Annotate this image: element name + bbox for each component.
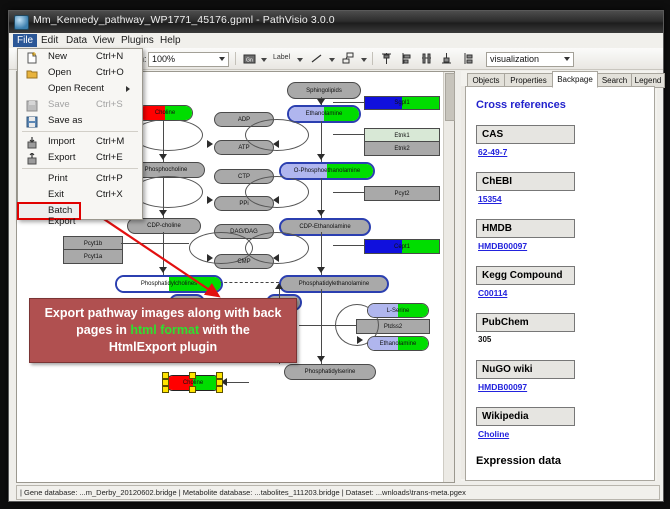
menu-separator bbox=[22, 131, 138, 132]
selection-handle[interactable] bbox=[189, 372, 196, 379]
line-dropdown-arrow[interactable] bbox=[329, 58, 335, 62]
application-window: Mm_Kennedy_pathway_WP1771_45176.gpml - P… bbox=[8, 10, 664, 502]
label-tool-label[interactable]: Label bbox=[273, 54, 290, 61]
file-menu-label: Save bbox=[48, 99, 70, 110]
menu-edit[interactable]: Edit bbox=[37, 34, 62, 47]
n-ptdetn-label: Phosphatidylethanolamine bbox=[299, 281, 369, 287]
n-ptdss2-label: Ptdss2 bbox=[384, 324, 402, 330]
n-sgpl1-label: Sgpl1 bbox=[394, 100, 409, 106]
edge-ptdetn-ptdserine bbox=[321, 289, 322, 364]
xref-section-title: NuGO wiki bbox=[476, 360, 575, 379]
n-ethanolamine-top-label: Ethanolamine bbox=[306, 111, 343, 117]
file-menu-item-open[interactable]: OpenCtrl+O bbox=[18, 65, 142, 81]
menu-file[interactable]: File bbox=[13, 34, 37, 47]
file-menu-item-new[interactable]: NewCtrl+N bbox=[18, 49, 142, 65]
file-menu-accelerator: Ctrl+N bbox=[96, 51, 123, 62]
edge-sgpl1 bbox=[333, 102, 364, 103]
align-top-icon[interactable] bbox=[379, 51, 394, 66]
menu-bar: File Edit Data View Plugins Help bbox=[9, 33, 663, 49]
arrow-left-atp bbox=[273, 140, 279, 148]
file-menu-label: Export bbox=[48, 152, 75, 163]
xref-section-title: Wikipedia bbox=[476, 407, 575, 426]
canvas-vertical-scrollbar[interactable] bbox=[443, 72, 454, 482]
file-menu-popup[interactable]: NewCtrl+NOpenCtrl+OOpen RecentSaveCtrl+S… bbox=[17, 48, 143, 220]
xref-value: 305 bbox=[478, 335, 491, 344]
selection-handle[interactable] bbox=[162, 372, 169, 379]
file-menu-accelerator: Ctrl+X bbox=[96, 189, 123, 200]
xref-section-title: PubChem bbox=[476, 313, 575, 332]
n-ethanolamine2-label: Ethanolamine bbox=[380, 341, 417, 347]
align-left-icon[interactable] bbox=[399, 51, 414, 66]
export-icon bbox=[26, 152, 38, 164]
xref-link[interactable]: Choline bbox=[478, 429, 509, 439]
xref-link[interactable]: HMDB00097 bbox=[478, 382, 527, 392]
file-menu-item-save-as[interactable]: Save as bbox=[18, 113, 142, 129]
curve-adp-atp bbox=[133, 119, 203, 151]
file-menu-label: Print bbox=[48, 173, 68, 184]
file-menu-label: Open Recent bbox=[48, 83, 104, 94]
stack-icon[interactable] bbox=[461, 51, 476, 66]
n-choline-top-label: Choline bbox=[155, 110, 175, 116]
new-file-icon bbox=[26, 51, 38, 63]
selection-handle[interactable] bbox=[162, 386, 169, 393]
n-ctp-label: CTP bbox=[238, 174, 250, 180]
cross-references-heading: Cross references bbox=[476, 99, 566, 111]
file-menu-accelerator: Ctrl+O bbox=[96, 67, 124, 78]
n-ptdetn[interactable]: Phosphatidylethanolamine bbox=[279, 275, 389, 293]
edge-pcyt2 bbox=[333, 192, 364, 193]
arrow-down-1 bbox=[159, 154, 167, 160]
n-phosphocholine-label: Phosphocholine bbox=[145, 167, 188, 173]
n-lserine[interactable]: L-Serine bbox=[367, 303, 429, 318]
n-cept1-label: Cept1 bbox=[394, 244, 410, 250]
submenu-arrow-icon bbox=[126, 86, 130, 92]
file-menu-items: NewCtrl+NOpenCtrl+OOpen RecentSaveCtrl+S… bbox=[18, 49, 142, 219]
file-menu-accelerator: Ctrl+M bbox=[96, 136, 124, 147]
n-ophospho[interactable]: O-Phosphoethanolamine bbox=[279, 162, 375, 180]
datanode-dropdown-arrow[interactable] bbox=[261, 58, 267, 62]
datanode-icon[interactable]: Gn bbox=[242, 51, 257, 66]
file-menu-label: New bbox=[48, 51, 67, 62]
selection-handle[interactable] bbox=[162, 379, 169, 386]
n-ethanolamine2[interactable]: Ethanolamine bbox=[367, 336, 429, 351]
n-adp-label: ADP bbox=[238, 117, 250, 123]
align-center-icon[interactable] bbox=[419, 51, 434, 66]
file-menu-accelerator: Ctrl+P bbox=[96, 173, 123, 184]
zoom-combo[interactable]: 100% bbox=[148, 52, 229, 67]
annotation-callout: Export pathway images along with back pa… bbox=[29, 298, 297, 363]
file-menu-label: Batch Export bbox=[48, 205, 80, 227]
file-menu-label: Exit bbox=[48, 189, 64, 200]
tab-backpage[interactable]: Backpage bbox=[552, 71, 598, 88]
save-icon bbox=[26, 99, 38, 111]
side-panel: Objects Properties Backpage Search Legen… bbox=[461, 71, 657, 481]
visualization-combo[interactable]: visualization bbox=[486, 52, 574, 67]
callout-highlight: html format bbox=[130, 323, 199, 337]
chevron-down-icon bbox=[219, 57, 225, 61]
callout-line2-a: pages in bbox=[76, 323, 130, 337]
visualization-value: visualization bbox=[490, 54, 539, 64]
n-etnk1-label: Etnk1 bbox=[394, 133, 409, 139]
svg-text:Gn: Gn bbox=[246, 58, 253, 64]
n-etnk2-label: Etnk2 bbox=[394, 146, 409, 152]
n-choline-top[interactable]: Choline bbox=[137, 105, 193, 121]
selection-handle[interactable] bbox=[216, 372, 223, 379]
menu-separator bbox=[22, 168, 138, 169]
interaction-icon[interactable] bbox=[341, 51, 356, 66]
title-bar: Mm_Kennedy_pathway_WP1771_45176.gpml - P… bbox=[9, 11, 663, 34]
n-ethanolamine-top[interactable]: Ethanolamine bbox=[287, 105, 361, 123]
selection-handle[interactable] bbox=[216, 379, 223, 386]
arrow-left-cmp bbox=[273, 254, 279, 262]
status-bar: | Gene database: ...m_Derby_20120602.bri… bbox=[16, 485, 660, 500]
screenshot-root: Mm_Kennedy_pathway_WP1771_45176.gpml - P… bbox=[0, 0, 670, 509]
file-menu-item-save: SaveCtrl+S bbox=[18, 97, 142, 113]
toolbar-separator bbox=[235, 52, 236, 65]
file-menu-label: Open bbox=[48, 67, 71, 78]
n-lserine-label: L-Serine bbox=[387, 308, 410, 314]
selection-handle[interactable] bbox=[216, 386, 223, 393]
xref-link[interactable]: C00114 bbox=[478, 288, 507, 298]
arrow-down-7 bbox=[317, 267, 325, 273]
window-title: Mm_Kennedy_pathway_WP1771_45176.gpml - P… bbox=[33, 14, 335, 26]
n-pcyt2-label: Pcyt2 bbox=[394, 191, 409, 197]
xref-section-title: CAS bbox=[476, 125, 575, 144]
arrow-down-8 bbox=[317, 356, 325, 362]
scrollbar-thumb[interactable] bbox=[445, 73, 455, 121]
n-cdpetn-label: CDP-Ethanolamine bbox=[299, 224, 350, 230]
arrow-down-6 bbox=[317, 210, 325, 216]
n-sgpl1[interactable]: Sgpl1 bbox=[364, 96, 440, 110]
n-ptdserine-label: Phosphatidylserine bbox=[305, 369, 356, 375]
interaction-dropdown-arrow[interactable] bbox=[361, 58, 367, 62]
zoom-value: 100% bbox=[152, 54, 175, 64]
folder-open-icon bbox=[26, 67, 38, 79]
n-pcyt2[interactable]: Pcyt2 bbox=[364, 186, 440, 201]
file-menu-item-export[interactable]: ExportCtrl+E bbox=[18, 150, 142, 166]
chevron-down-icon-2 bbox=[564, 57, 570, 61]
file-menu-label: Import bbox=[48, 136, 75, 147]
n-cept1[interactable]: Cept1 bbox=[364, 239, 440, 254]
arrow-down-4 bbox=[317, 99, 325, 105]
menu-data[interactable]: Data bbox=[62, 34, 91, 47]
xref-link[interactable]: HMDB00097 bbox=[478, 241, 527, 251]
pathvisio-icon bbox=[14, 15, 29, 30]
save-as-icon bbox=[26, 115, 38, 127]
import-icon bbox=[26, 136, 38, 148]
xref-section-title: HMDB bbox=[476, 219, 575, 238]
callout-line-3: HtmlExport plugin bbox=[38, 339, 288, 356]
xref-link[interactable]: 15354 bbox=[478, 194, 502, 204]
arrow-up-1 bbox=[275, 283, 283, 289]
backpage-content: Cross references CAS62-49-7ChEBI15354HMD… bbox=[465, 86, 655, 481]
xref-link[interactable]: 62-49-7 bbox=[478, 147, 507, 157]
callout-line-1: Export pathway images along with back bbox=[38, 305, 288, 322]
file-menu-item-batch-export[interactable]: Batch Export bbox=[18, 203, 80, 219]
align-bottom-icon[interactable] bbox=[439, 51, 454, 66]
expression-data-heading: Expression data bbox=[476, 455, 561, 467]
file-menu-accelerator: Ctrl+S bbox=[96, 99, 123, 110]
n-ophospho-label: O-Phosphoethanolamine bbox=[294, 168, 360, 174]
n-etnk2[interactable]: Etnk2 bbox=[364, 141, 440, 156]
file-menu-item-exit[interactable]: ExitCtrl+X bbox=[18, 187, 142, 203]
file-menu-label: Save as bbox=[48, 115, 82, 126]
xref-section-title: ChEBI bbox=[476, 172, 575, 191]
edge-etnk bbox=[333, 134, 364, 135]
selection-handle[interactable] bbox=[189, 386, 196, 393]
label-dropdown-arrow[interactable] bbox=[297, 58, 303, 62]
callout-line2-b: with the bbox=[199, 323, 250, 337]
line-icon[interactable] bbox=[309, 51, 324, 66]
n-sphingolipids[interactable]: Sphingolipids bbox=[287, 82, 361, 99]
menu-help[interactable]: Help bbox=[156, 34, 185, 47]
menu-view[interactable]: View bbox=[89, 34, 119, 47]
file-menu-accelerator: Ctrl+E bbox=[96, 152, 123, 163]
arrow-right-etn2 bbox=[357, 336, 363, 344]
callout-line-2: pages in html format with the bbox=[38, 322, 288, 339]
menu-plugins[interactable]: Plugins bbox=[117, 34, 158, 47]
file-menu-item-print[interactable]: PrintCtrl+P bbox=[18, 171, 142, 187]
toolbar-separator-2 bbox=[372, 52, 373, 65]
xref-section-title: Kegg Compound bbox=[476, 266, 575, 285]
arrow-left-ppi bbox=[273, 196, 279, 204]
n-atp-label: ATP bbox=[238, 145, 249, 151]
file-menu-item-import[interactable]: ImportCtrl+M bbox=[18, 134, 142, 150]
edge-cept1 bbox=[333, 245, 364, 246]
n-sphingolipids-label: Sphingolipids bbox=[306, 88, 342, 94]
arrow-right-atp bbox=[207, 140, 213, 148]
panel-tabs: Objects Properties Backpage Search Legen… bbox=[467, 71, 657, 86]
arrow-down-5 bbox=[317, 154, 325, 160]
n-ptdserine[interactable]: Phosphatidylserine bbox=[284, 364, 376, 380]
edge-ptdss2 bbox=[299, 325, 356, 326]
file-menu-item-open-recent[interactable]: Open Recent bbox=[18, 81, 142, 97]
